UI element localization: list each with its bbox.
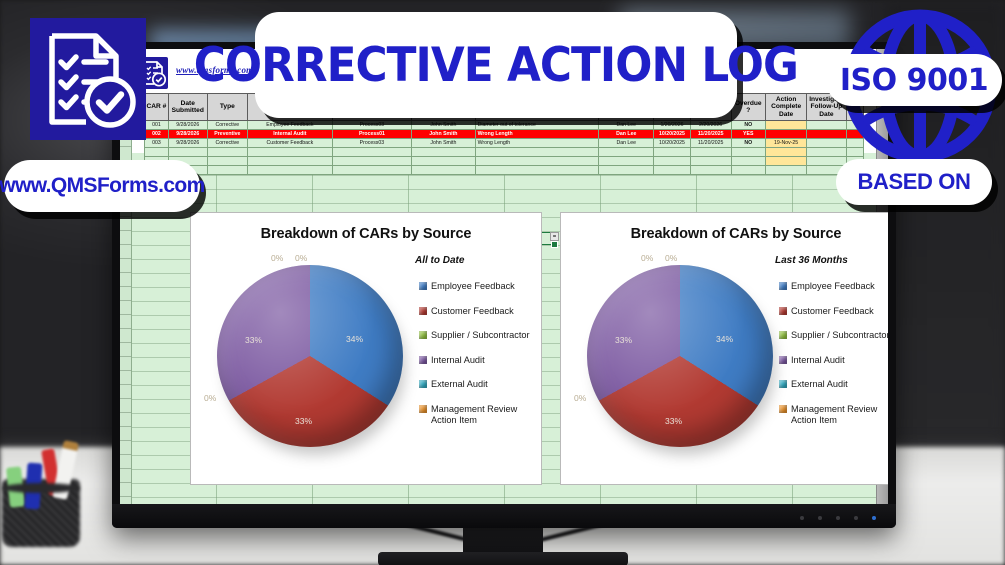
pie-label-customer-feedback: 33% (295, 416, 312, 426)
cell-blank[interactable] (765, 157, 806, 166)
cell-blank[interactable] (765, 166, 806, 175)
cell-date-assigned[interactable]: 1/20/2026 (654, 121, 691, 130)
chart-card-all-to-date[interactable]: Breakdown of CARs by Source All to Date … (190, 212, 542, 485)
legend-label: Customer Feedback (791, 306, 874, 318)
col-car-number[interactable]: CAR # (145, 94, 169, 121)
legend-item-management-review[interactable]: Management Review Action Item (419, 404, 530, 427)
pen-cup-rim (2, 483, 80, 493)
cell-source[interactable]: Customer Feedback (248, 139, 333, 148)
legend-label: Internal Audit (431, 355, 485, 367)
legend-swatch-icon (419, 380, 427, 388)
cell-blank[interactable] (690, 148, 731, 157)
cell-type[interactable]: Corrective (207, 139, 247, 148)
legend-item-internal-audit[interactable]: Internal Audit (779, 355, 888, 367)
table-row: 001 9/28/2026 Corrective Employee Feedba… (145, 121, 864, 130)
cell-blank[interactable] (412, 148, 475, 157)
cell-blank[interactable] (690, 166, 731, 175)
cell-description[interactable]: Wrong Length (475, 130, 599, 139)
cell-submitter[interactable]: John Smith (412, 121, 475, 130)
iso-label: ISO 9001 (840, 63, 988, 98)
legend-swatch-icon (779, 282, 787, 290)
chart-card-last-36-months[interactable]: Breakdown of CARs by Source Last 36 Mont… (560, 212, 888, 485)
cell-car[interactable]: 001 (145, 121, 169, 130)
pie-label-zero-a: 0% (271, 253, 283, 263)
legend-item-customer-feedback[interactable]: Customer Feedback (419, 306, 530, 318)
legend-label: Employee Feedback (431, 281, 515, 293)
legend-item-employee-feedback[interactable]: Employee Feedback (419, 281, 530, 293)
cell-date-sub[interactable]: 9/28/2026 (168, 139, 207, 148)
legend-label: Internal Audit (791, 355, 845, 367)
pie-label-zero-b: 0% (295, 253, 307, 263)
legend-label: Supplier / Subcontractor (791, 330, 888, 342)
cell-blank[interactable] (207, 157, 247, 166)
cell-due-date[interactable]: 2/20/2026 (690, 121, 731, 130)
checklist-document-icon (30, 18, 146, 140)
cell-process[interactable]: Process03 (332, 121, 411, 130)
cell-blank[interactable] (168, 148, 207, 157)
cell-assigned-to[interactable]: Dan Lee (599, 130, 654, 139)
legend-label: Employee Feedback (791, 281, 875, 293)
cell-blank[interactable] (475, 148, 599, 157)
legend-item-supplier-subcontractor[interactable]: Supplier / Subcontractor (779, 330, 888, 342)
cell-assigned-to[interactable]: Dan Lee (599, 139, 654, 148)
legend-swatch-icon (419, 405, 427, 413)
cell-submitter[interactable]: John Smith (412, 130, 475, 139)
cell-date-sub[interactable]: 9/28/2026 (168, 121, 207, 130)
legend-label: External Audit (791, 379, 848, 391)
legend-swatch-icon (779, 405, 787, 413)
cell-blank[interactable] (599, 166, 654, 175)
legend-item-external-audit[interactable]: External Audit (779, 379, 888, 391)
monitor-button-icon[interactable] (836, 516, 840, 520)
cell-overdue[interactable]: NO (731, 139, 765, 148)
pie-label-zero-a: 0% (641, 253, 653, 263)
cell-date-assigned[interactable]: 10/20/2025 (654, 130, 691, 139)
legend-item-external-audit[interactable]: External Audit (419, 379, 530, 391)
based-on-badge: BASED ON (836, 159, 992, 205)
col-type[interactable]: Type (207, 94, 247, 121)
chart-title: Breakdown of CARs by Source (561, 226, 888, 242)
legend-label: Supplier / Subcontractor (431, 330, 530, 342)
legend-swatch-icon (419, 307, 427, 315)
cell-type[interactable]: Corrective (207, 121, 247, 130)
cell-blank[interactable] (731, 166, 765, 175)
cell-overdue[interactable]: NO (731, 121, 765, 130)
cell-process[interactable]: Process01 (332, 130, 411, 139)
cell-blank[interactable] (248, 166, 333, 175)
cell-blank[interactable] (599, 148, 654, 157)
chart-legend: Employee Feedback Customer Feedback Supp… (419, 281, 530, 440)
cell-blank[interactable] (332, 157, 411, 166)
table-row (145, 166, 864, 175)
cell-overdue[interactable]: YES (731, 130, 765, 139)
cell-submitter[interactable]: John Smith (412, 139, 475, 148)
legend-label: Management Review Action Item (431, 404, 527, 427)
cell-blank[interactable] (475, 166, 599, 175)
cell-description[interactable]: Diameter out of tolerance (475, 121, 599, 130)
legend-swatch-icon (419, 356, 427, 364)
cell-complete-date[interactable] (765, 130, 806, 139)
cell-type[interactable]: Preventive (207, 130, 247, 139)
cell-blank[interactable] (412, 157, 475, 166)
cell-process[interactable]: Process03 (332, 139, 411, 148)
pie-chart: 0% 0% 34% 33% 33% 0% (217, 265, 409, 457)
pie-label-employee-feedback: 34% (716, 334, 733, 344)
legend-swatch-icon (419, 331, 427, 339)
legend-swatch-icon (779, 356, 787, 364)
monitor-stand-base (378, 552, 628, 565)
legend-label: Customer Feedback (431, 306, 514, 318)
cell-car[interactable]: 003 (145, 139, 169, 148)
chart-subtitle: Last 36 Months (775, 255, 848, 266)
iso-badge: ISO 9001 (826, 54, 1002, 106)
col-action-complete-date[interactable]: Action Complete Date (765, 94, 806, 121)
cell-complete-date[interactable]: 19-Nov-25 (765, 139, 806, 148)
legend-label: Management Review Action Item (791, 404, 887, 427)
legend-swatch-icon (419, 282, 427, 290)
based-on-label: BASED ON (858, 169, 971, 195)
table-row: 003 9/28/2026 Corrective Customer Feedba… (145, 139, 864, 148)
cell-blank[interactable] (599, 157, 654, 166)
cell-blank[interactable] (654, 148, 691, 157)
title-banner: CORRECTIVE ACTION LOG (255, 12, 737, 118)
monitor-button-icon[interactable] (854, 516, 858, 520)
pie-label-customer-feedback: 33% (665, 416, 682, 426)
legend-item-internal-audit[interactable]: Internal Audit (419, 355, 530, 367)
pie-label-internal-audit: 33% (615, 335, 632, 345)
cell-blank[interactable] (731, 148, 765, 157)
cell-blank[interactable] (332, 148, 411, 157)
legend-swatch-icon (779, 307, 787, 315)
pie-label-supplier: 0% (204, 393, 216, 403)
pie-label-supplier: 0% (574, 393, 586, 403)
cell-blank[interactable] (145, 148, 169, 157)
website-badge[interactable]: www.QMSForms.com (4, 160, 200, 212)
cell-blank[interactable] (207, 166, 247, 175)
cell-blank[interactable] (207, 148, 247, 157)
monitor-stand-neck (463, 528, 543, 554)
legend-swatch-icon (779, 380, 787, 388)
monitor-button-icon[interactable] (800, 516, 804, 520)
cell-date-assigned[interactable]: 10/20/2025 (654, 139, 691, 148)
monitor-bezel-bottom (112, 504, 896, 528)
cell-car[interactable]: 002 (145, 130, 169, 139)
cell-due-date[interactable]: 11/20/2025 (690, 130, 731, 139)
pie-label-internal-audit: 33% (245, 335, 262, 345)
cell-blank[interactable] (690, 157, 731, 166)
monitor-power-led-icon[interactable] (872, 516, 876, 520)
cell-assigned-to[interactable]: Dan Lee (599, 121, 654, 130)
autofill-options-icon[interactable]: = (550, 232, 559, 241)
legend-item-management-review[interactable]: Management Review Action Item (779, 404, 888, 427)
chart-title: Breakdown of CARs by Source (191, 226, 541, 242)
cell-complete-date[interactable] (765, 121, 806, 130)
legend-label: External Audit (431, 379, 488, 391)
monitor-button-icon[interactable] (818, 516, 822, 520)
legend-item-supplier-subcontractor[interactable]: Supplier / Subcontractor (419, 330, 530, 342)
cell-due-date[interactable]: 11/20/2025 (690, 139, 731, 148)
pie-chart: 0% 0% 34% 33% 33% 0% (587, 265, 779, 457)
cell-date-sub[interactable]: 9/28/2026 (168, 130, 207, 139)
cell-blank[interactable] (654, 157, 691, 166)
pie-label-employee-feedback: 34% (346, 334, 363, 344)
chart-legend: Employee Feedback Customer Feedback Supp… (779, 281, 888, 440)
page-title: CORRECTIVE ACTION LOG (194, 38, 798, 93)
legend-item-customer-feedback[interactable]: Customer Feedback (779, 306, 888, 318)
cell-blank[interactable] (412, 166, 475, 175)
cell-blank[interactable] (248, 148, 333, 157)
cell-description[interactable]: Wrong Length (475, 139, 599, 148)
cell-source[interactable]: Employee Feedback (248, 121, 333, 130)
table-row: 002 9/28/2026 Preventive Internal Audit … (145, 130, 864, 139)
cell-blank[interactable] (765, 148, 806, 157)
legend-item-employee-feedback[interactable]: Employee Feedback (779, 281, 888, 293)
cell-blank[interactable] (332, 166, 411, 175)
cell-blank[interactable] (731, 157, 765, 166)
table-row (145, 157, 864, 166)
chart-subtitle: All to Date (415, 255, 464, 266)
cell-blank[interactable] (654, 166, 691, 175)
table-row (145, 148, 864, 157)
car-log-body: 001 9/28/2026 Corrective Employee Feedba… (145, 121, 864, 175)
pie-label-zero-b: 0% (665, 253, 677, 263)
cell-source[interactable]: Internal Audit (248, 130, 333, 139)
col-date-submitted[interactable]: Date Submitted (168, 94, 207, 121)
cell-blank[interactable] (248, 157, 333, 166)
website-label: www.QMSForms.com (0, 174, 205, 198)
legend-swatch-icon (779, 331, 787, 339)
cell-blank[interactable] (475, 157, 599, 166)
